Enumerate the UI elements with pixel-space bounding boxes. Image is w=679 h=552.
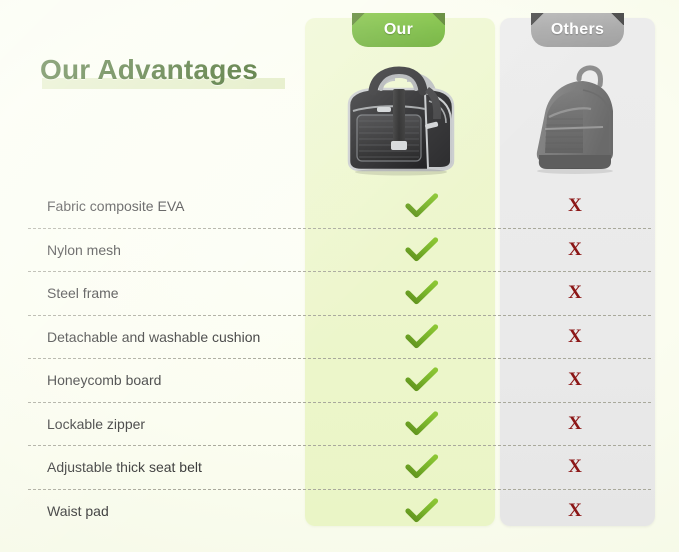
feature-row: Detachable and washable cushion X	[28, 316, 651, 360]
x-icon: X	[568, 369, 582, 390]
others-mark: X	[553, 327, 597, 347]
feature-row: Lockable zipper X	[28, 403, 651, 447]
others-mark: X	[553, 501, 597, 521]
check-icon	[405, 193, 439, 219]
our-mark	[400, 411, 444, 437]
ribbon-notch-right-icon	[431, 13, 445, 25]
x-icon: X	[568, 239, 582, 260]
ribbon-notch-left-icon	[531, 13, 545, 25]
our-column-label: Our	[384, 21, 413, 39]
feature-row: Steel frame X	[28, 272, 651, 316]
our-column-header-ribbon: Our	[352, 13, 445, 47]
comparison-chart: Our Advantages Our Others	[0, 0, 679, 552]
x-icon: X	[568, 500, 582, 521]
check-icon	[405, 498, 439, 524]
feature-name: Fabric composite EVA	[47, 198, 184, 214]
x-icon: X	[568, 282, 582, 303]
others-mark: X	[553, 457, 597, 477]
feature-row: Honeycomb board X	[28, 359, 651, 403]
feature-rows: Fabric composite EVA X Nylon mesh	[0, 185, 679, 532]
check-icon	[405, 324, 439, 350]
others-column-header-ribbon: Others	[531, 13, 624, 47]
feature-name: Lockable zipper	[47, 416, 145, 432]
our-mark	[400, 193, 444, 219]
check-icon	[405, 411, 439, 437]
our-mark	[400, 498, 444, 524]
check-icon	[405, 367, 439, 393]
x-icon: X	[568, 456, 582, 477]
feature-name: Honeycomb board	[47, 372, 161, 388]
our-mark	[400, 367, 444, 393]
page-title-block: Our Advantages	[40, 54, 258, 86]
ribbon-notch-right-icon	[610, 13, 624, 25]
feature-name: Detachable and washable cushion	[47, 329, 260, 345]
page-title: Our Advantages	[40, 54, 258, 86]
our-mark	[400, 324, 444, 350]
feature-row: Adjustable thick seat belt X	[28, 446, 651, 490]
ribbon-notch-left-icon	[352, 13, 366, 25]
x-icon: X	[568, 326, 582, 347]
our-mark	[400, 454, 444, 480]
feature-name: Adjustable thick seat belt	[47, 459, 202, 475]
others-mark: X	[553, 196, 597, 216]
others-mark: X	[553, 370, 597, 390]
others-mark: X	[553, 283, 597, 303]
others-column-label: Others	[551, 21, 604, 39]
others-mark: X	[553, 414, 597, 434]
feature-row: Waist pad X	[28, 490, 651, 533]
our-product-image	[333, 57, 467, 177]
others-product-image	[525, 57, 637, 182]
feature-name: Steel frame	[47, 285, 119, 301]
our-mark	[400, 237, 444, 263]
feature-name: Waist pad	[47, 503, 109, 519]
feature-name: Nylon mesh	[47, 242, 121, 258]
feature-row: Fabric composite EVA X	[28, 185, 651, 229]
check-icon	[405, 237, 439, 263]
check-icon	[405, 454, 439, 480]
x-icon: X	[568, 195, 582, 216]
others-mark: X	[553, 240, 597, 260]
check-icon	[405, 280, 439, 306]
feature-row: Nylon mesh X	[28, 229, 651, 273]
our-mark	[400, 280, 444, 306]
x-icon: X	[568, 413, 582, 434]
